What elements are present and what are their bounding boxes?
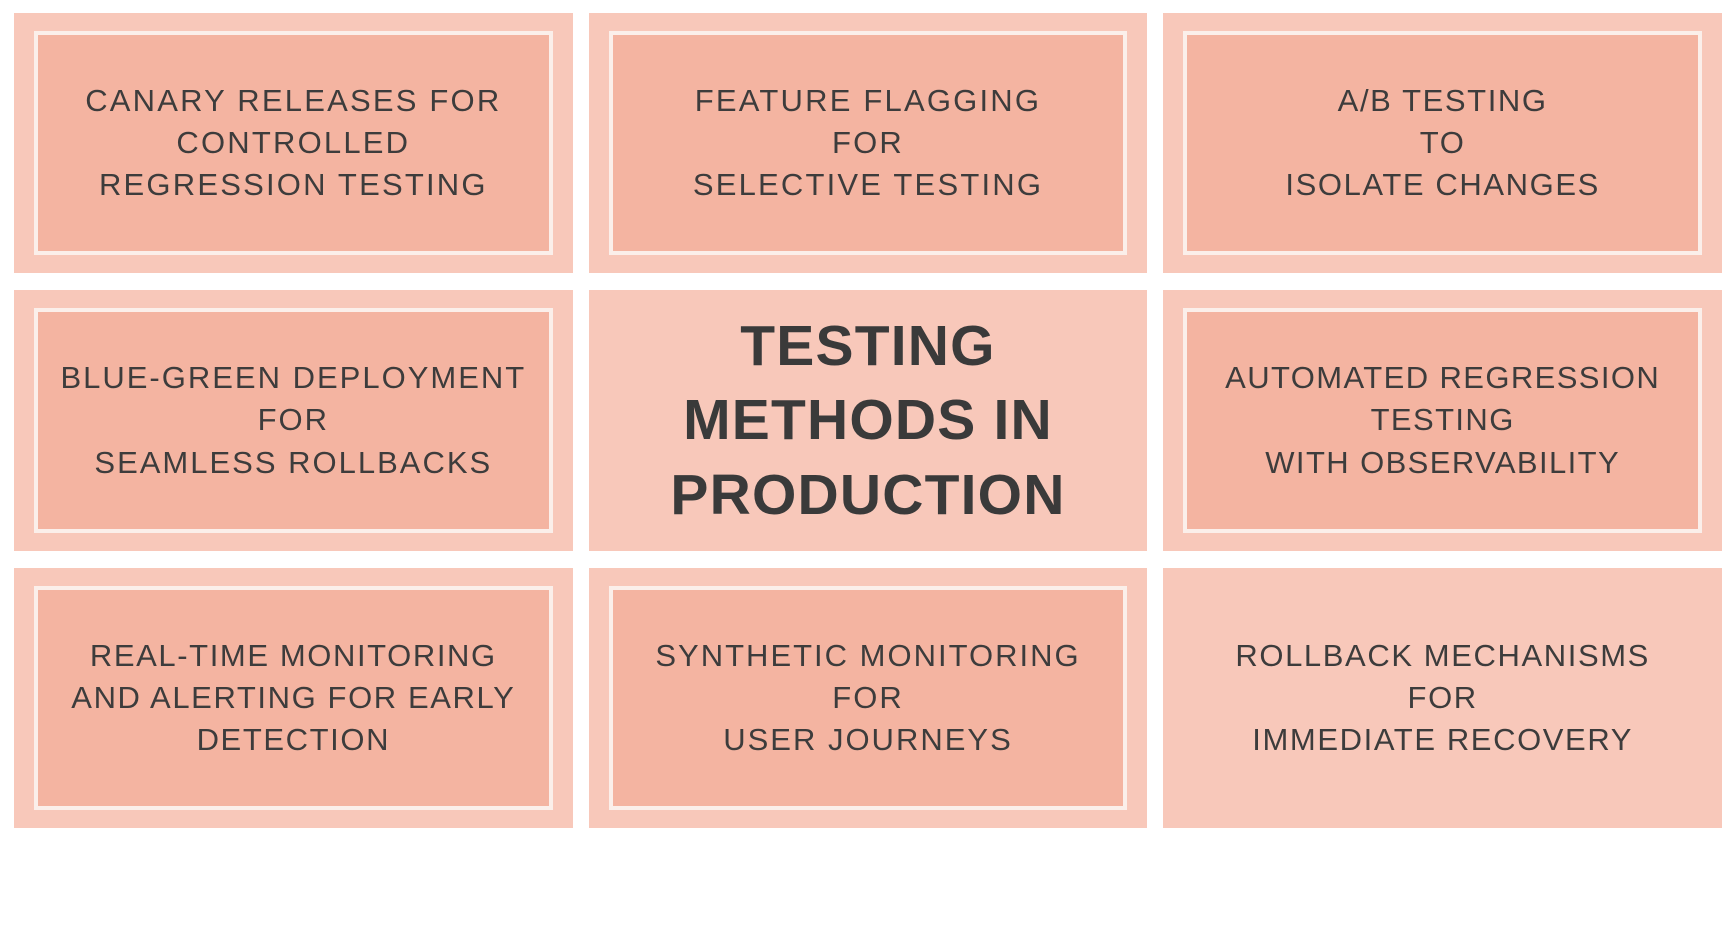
card-label-rollback-mechanisms: ROLLBACK MECHANISMS FOR IMMEDIATE RECOVE… bbox=[1235, 635, 1650, 761]
card-inner-frame: FEATURE FLAGGING FOR SELECTIVE TESTING bbox=[609, 31, 1128, 255]
card-label-real-time-monitoring: REAL-TIME MONITORING AND ALERTING FOR EA… bbox=[71, 635, 515, 761]
card-center-title: TESTING METHODS IN PRODUCTION bbox=[589, 290, 1148, 550]
center-title-wrap: TESTING METHODS IN PRODUCTION bbox=[611, 306, 1126, 534]
card-feature-flagging: FEATURE FLAGGING FOR SELECTIVE TESTING bbox=[589, 13, 1148, 273]
card-ab-testing: A/B TESTING TO ISOLATE CHANGES bbox=[1163, 13, 1722, 273]
card-rollback-mechanisms: ROLLBACK MECHANISMS FOR IMMEDIATE RECOVE… bbox=[1163, 568, 1722, 828]
card-inner-frame: ROLLBACK MECHANISMS FOR IMMEDIATE RECOVE… bbox=[1185, 584, 1700, 812]
card-inner-frame: CANARY RELEASES FOR CONTROLLED REGRESSIO… bbox=[34, 31, 553, 255]
card-canary-releases: CANARY RELEASES FOR CONTROLLED REGRESSIO… bbox=[14, 13, 573, 273]
card-inner-frame: REAL-TIME MONITORING AND ALERTING FOR EA… bbox=[34, 586, 553, 810]
card-synthetic-monitoring: SYNTHETIC MONITORING FOR USER JOURNEYS bbox=[589, 568, 1148, 828]
card-label-automated-regression-testing: AUTOMATED REGRESSION TESTING WITH OBSERV… bbox=[1225, 357, 1660, 483]
card-inner-frame: SYNTHETIC MONITORING FOR USER JOURNEYS bbox=[609, 586, 1128, 810]
card-label-ab-testing: A/B TESTING TO ISOLATE CHANGES bbox=[1285, 80, 1600, 206]
card-label-synthetic-monitoring: SYNTHETIC MONITORING FOR USER JOURNEYS bbox=[655, 635, 1080, 761]
card-real-time-monitoring: REAL-TIME MONITORING AND ALERTING FOR EA… bbox=[14, 568, 573, 828]
card-label-canary-releases: CANARY RELEASES FOR CONTROLLED REGRESSIO… bbox=[85, 80, 501, 206]
infographic-grid: CANARY RELEASES FOR CONTROLLED REGRESSIO… bbox=[0, 0, 1736, 932]
card-label-blue-green-deployment: BLUE-GREEN DEPLOYMENT FOR SEAMLESS ROLLB… bbox=[60, 357, 526, 483]
card-blue-green-deployment: BLUE-GREEN DEPLOYMENT FOR SEAMLESS ROLLB… bbox=[14, 290, 573, 550]
card-label-feature-flagging: FEATURE FLAGGING FOR SELECTIVE TESTING bbox=[693, 80, 1043, 206]
infographic-title: TESTING METHODS IN PRODUCTION bbox=[670, 309, 1065, 531]
card-inner-frame: A/B TESTING TO ISOLATE CHANGES bbox=[1183, 31, 1702, 255]
card-inner-frame: BLUE-GREEN DEPLOYMENT FOR SEAMLESS ROLLB… bbox=[34, 308, 553, 532]
card-inner-frame: AUTOMATED REGRESSION TESTING WITH OBSERV… bbox=[1183, 308, 1702, 532]
card-automated-regression-testing: AUTOMATED REGRESSION TESTING WITH OBSERV… bbox=[1163, 290, 1722, 550]
